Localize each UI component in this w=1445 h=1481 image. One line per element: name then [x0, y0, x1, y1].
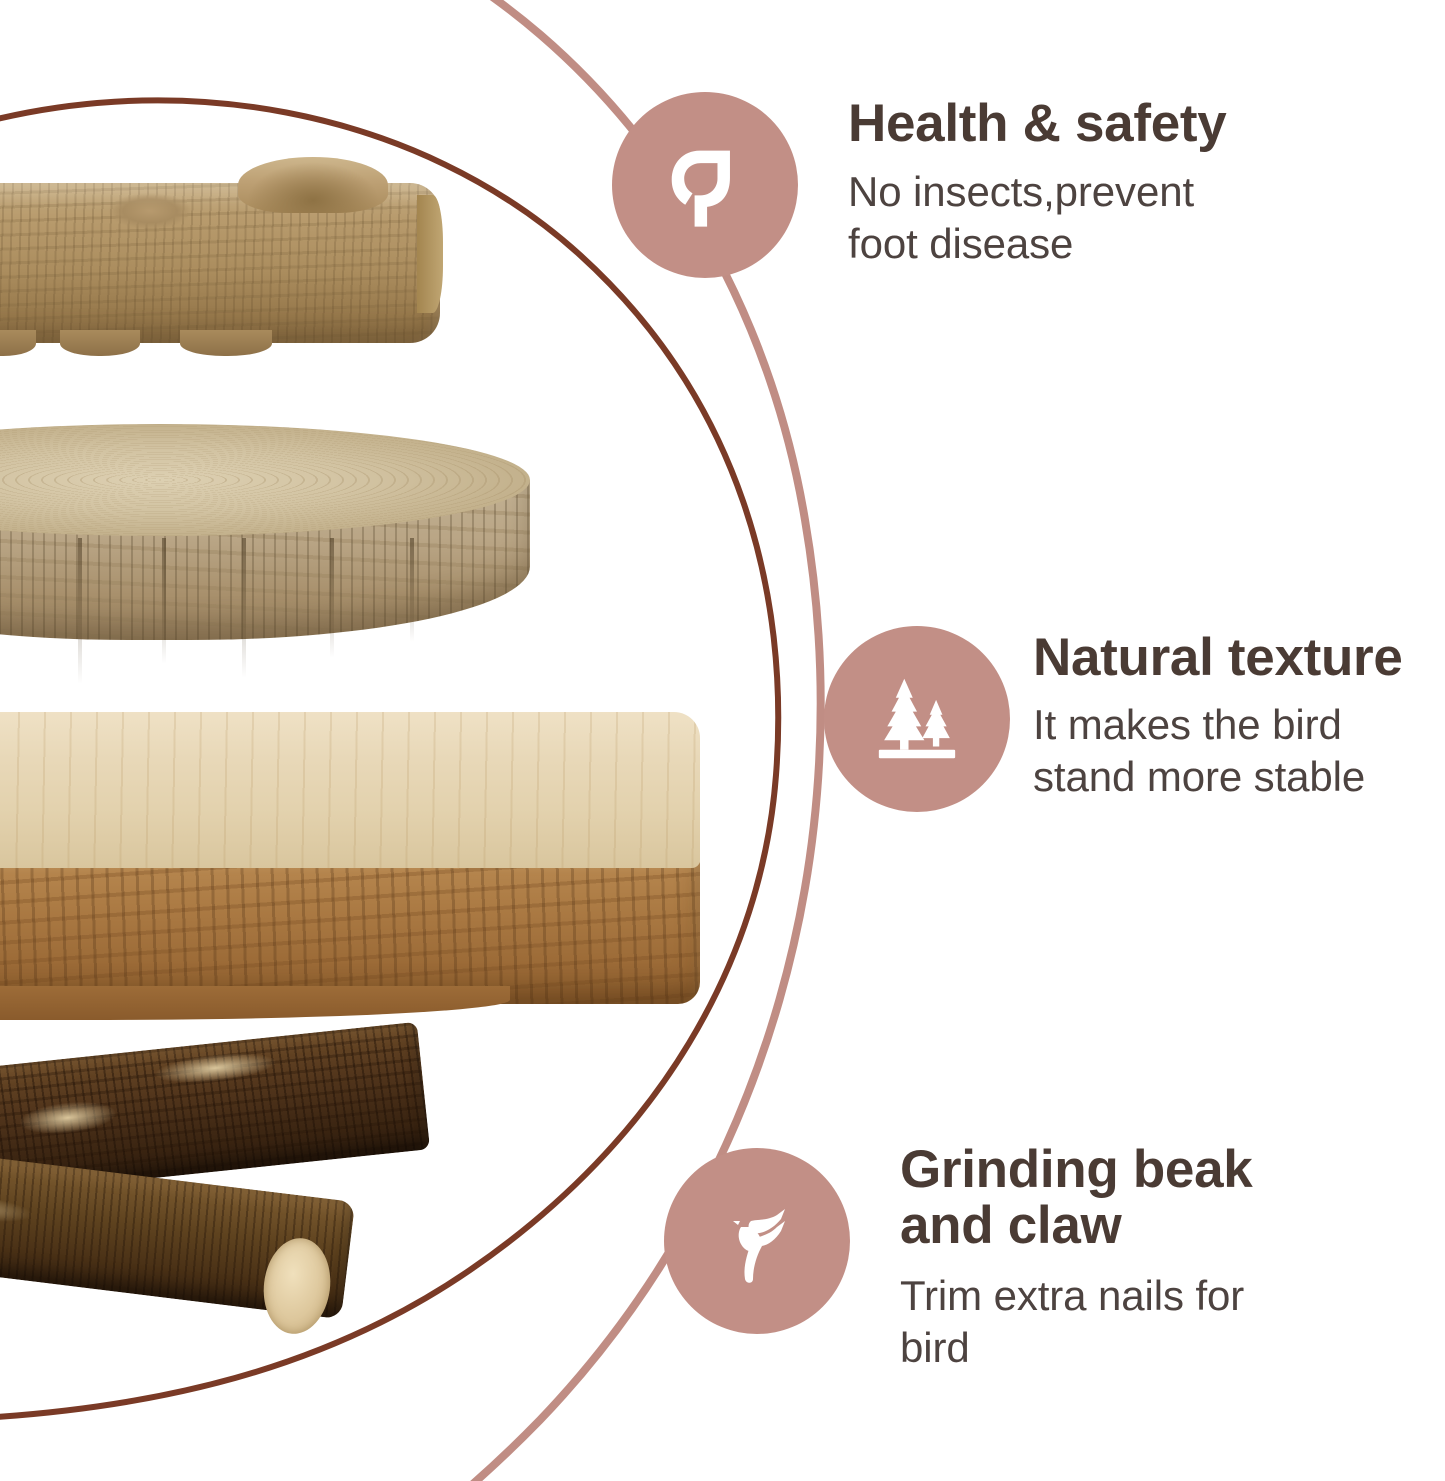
branch-nub: [0, 330, 36, 356]
bird-claw-icon: [707, 1191, 807, 1291]
feature-title: Health & safety: [848, 96, 1408, 152]
product-photo-live-edge-plank: [0, 712, 700, 1012]
feature-title: Natural texture: [1033, 630, 1445, 686]
bird-claw-icon-badge: [664, 1148, 850, 1334]
feature-text-block: Health & safety No insects,prevent foot …: [848, 96, 1408, 270]
product-photo-knotty-perch-branch: [0, 183, 440, 343]
branch-nub: [180, 330, 272, 356]
plank-bark-edge: [0, 854, 700, 1004]
plank-sanded-face: [0, 712, 700, 868]
pine-trees-icon-badge: [824, 626, 1010, 812]
leaf-icon: [653, 133, 757, 237]
feature-description: Trim extra nails for bird: [900, 1270, 1400, 1374]
leaf-icon-badge: [612, 92, 798, 278]
feature-text-block: Natural texture It makes the bird stand …: [1033, 630, 1445, 803]
branch-knot: [238, 157, 388, 213]
branch-cut-end: [417, 195, 443, 313]
product-photo-dark-bark-sticks: [0, 1042, 480, 1342]
product-infographic: { "theme": { "badge_color": "#c28f86", "…: [0, 0, 1445, 1481]
feature-description: No insects,prevent foot disease: [848, 166, 1408, 270]
pine-trees-icon: [864, 666, 970, 772]
feature-title: Grinding beak and claw: [900, 1142, 1400, 1254]
feature-text-block: Grinding beak and claw Trim extra nails …: [900, 1142, 1400, 1375]
feature-description: It makes the bird stand more stable: [1033, 699, 1445, 803]
branch-nub: [60, 330, 140, 356]
product-photo-round-wood-slice: [0, 424, 530, 674]
